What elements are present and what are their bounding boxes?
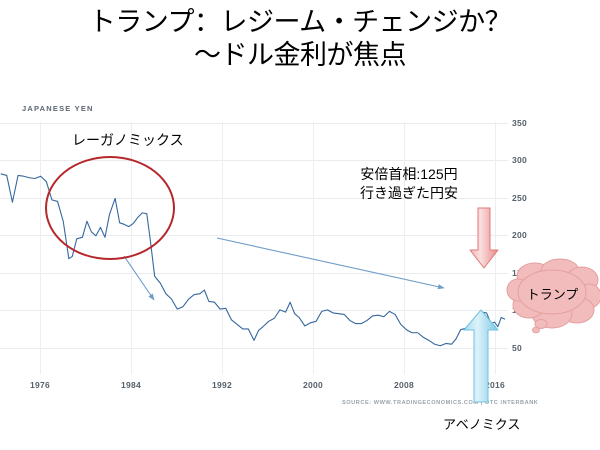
thought-bubble-label: トランプ xyxy=(505,284,600,303)
ytick-300: 300 xyxy=(512,155,527,165)
xtick-2016: 2016 xyxy=(485,380,505,390)
xtick-2008: 2008 xyxy=(394,380,414,390)
ytick-350: 350 xyxy=(512,118,527,128)
xtick-1984: 1984 xyxy=(121,380,141,390)
annotation-abe-line-2: 行き過ぎた円安 xyxy=(360,184,458,203)
xtick-1976: 1976 xyxy=(30,380,50,390)
chart-axis-title-japanese-yen: JAPANESE YEN xyxy=(22,104,94,113)
title-line-1: トランプ：レジーム・チェンジか？ xyxy=(0,6,600,39)
page-title: トランプ：レジーム・チェンジか？ ～ドル金利が焦点 xyxy=(0,6,600,72)
ytick-200: 200 xyxy=(512,230,527,240)
xtick-2000: 2000 xyxy=(303,380,323,390)
trump-thought-bubble: トランプ xyxy=(505,258,600,338)
title-line-2: ～ドル金利が焦点 xyxy=(0,39,600,72)
ytick-50: 50 xyxy=(512,343,522,353)
xtick-1992: 1992 xyxy=(212,380,232,390)
annotation-reaganomics: レーガノミックス xyxy=(72,130,184,150)
reaganomics-highlight-ellipse xyxy=(45,156,175,260)
annotation-abe-note: 安倍首相:125円 行き過ぎた円安 xyxy=(360,165,458,203)
ytick-250: 250 xyxy=(512,193,527,203)
annotation-abenomics: アベノミクス xyxy=(443,414,520,433)
chart-source-note: SOURCE: WWW.TRADINGECONOMICS.COM | OTC I… xyxy=(342,400,538,406)
annotation-abe-line-1: 安倍首相:125円 xyxy=(360,165,458,184)
